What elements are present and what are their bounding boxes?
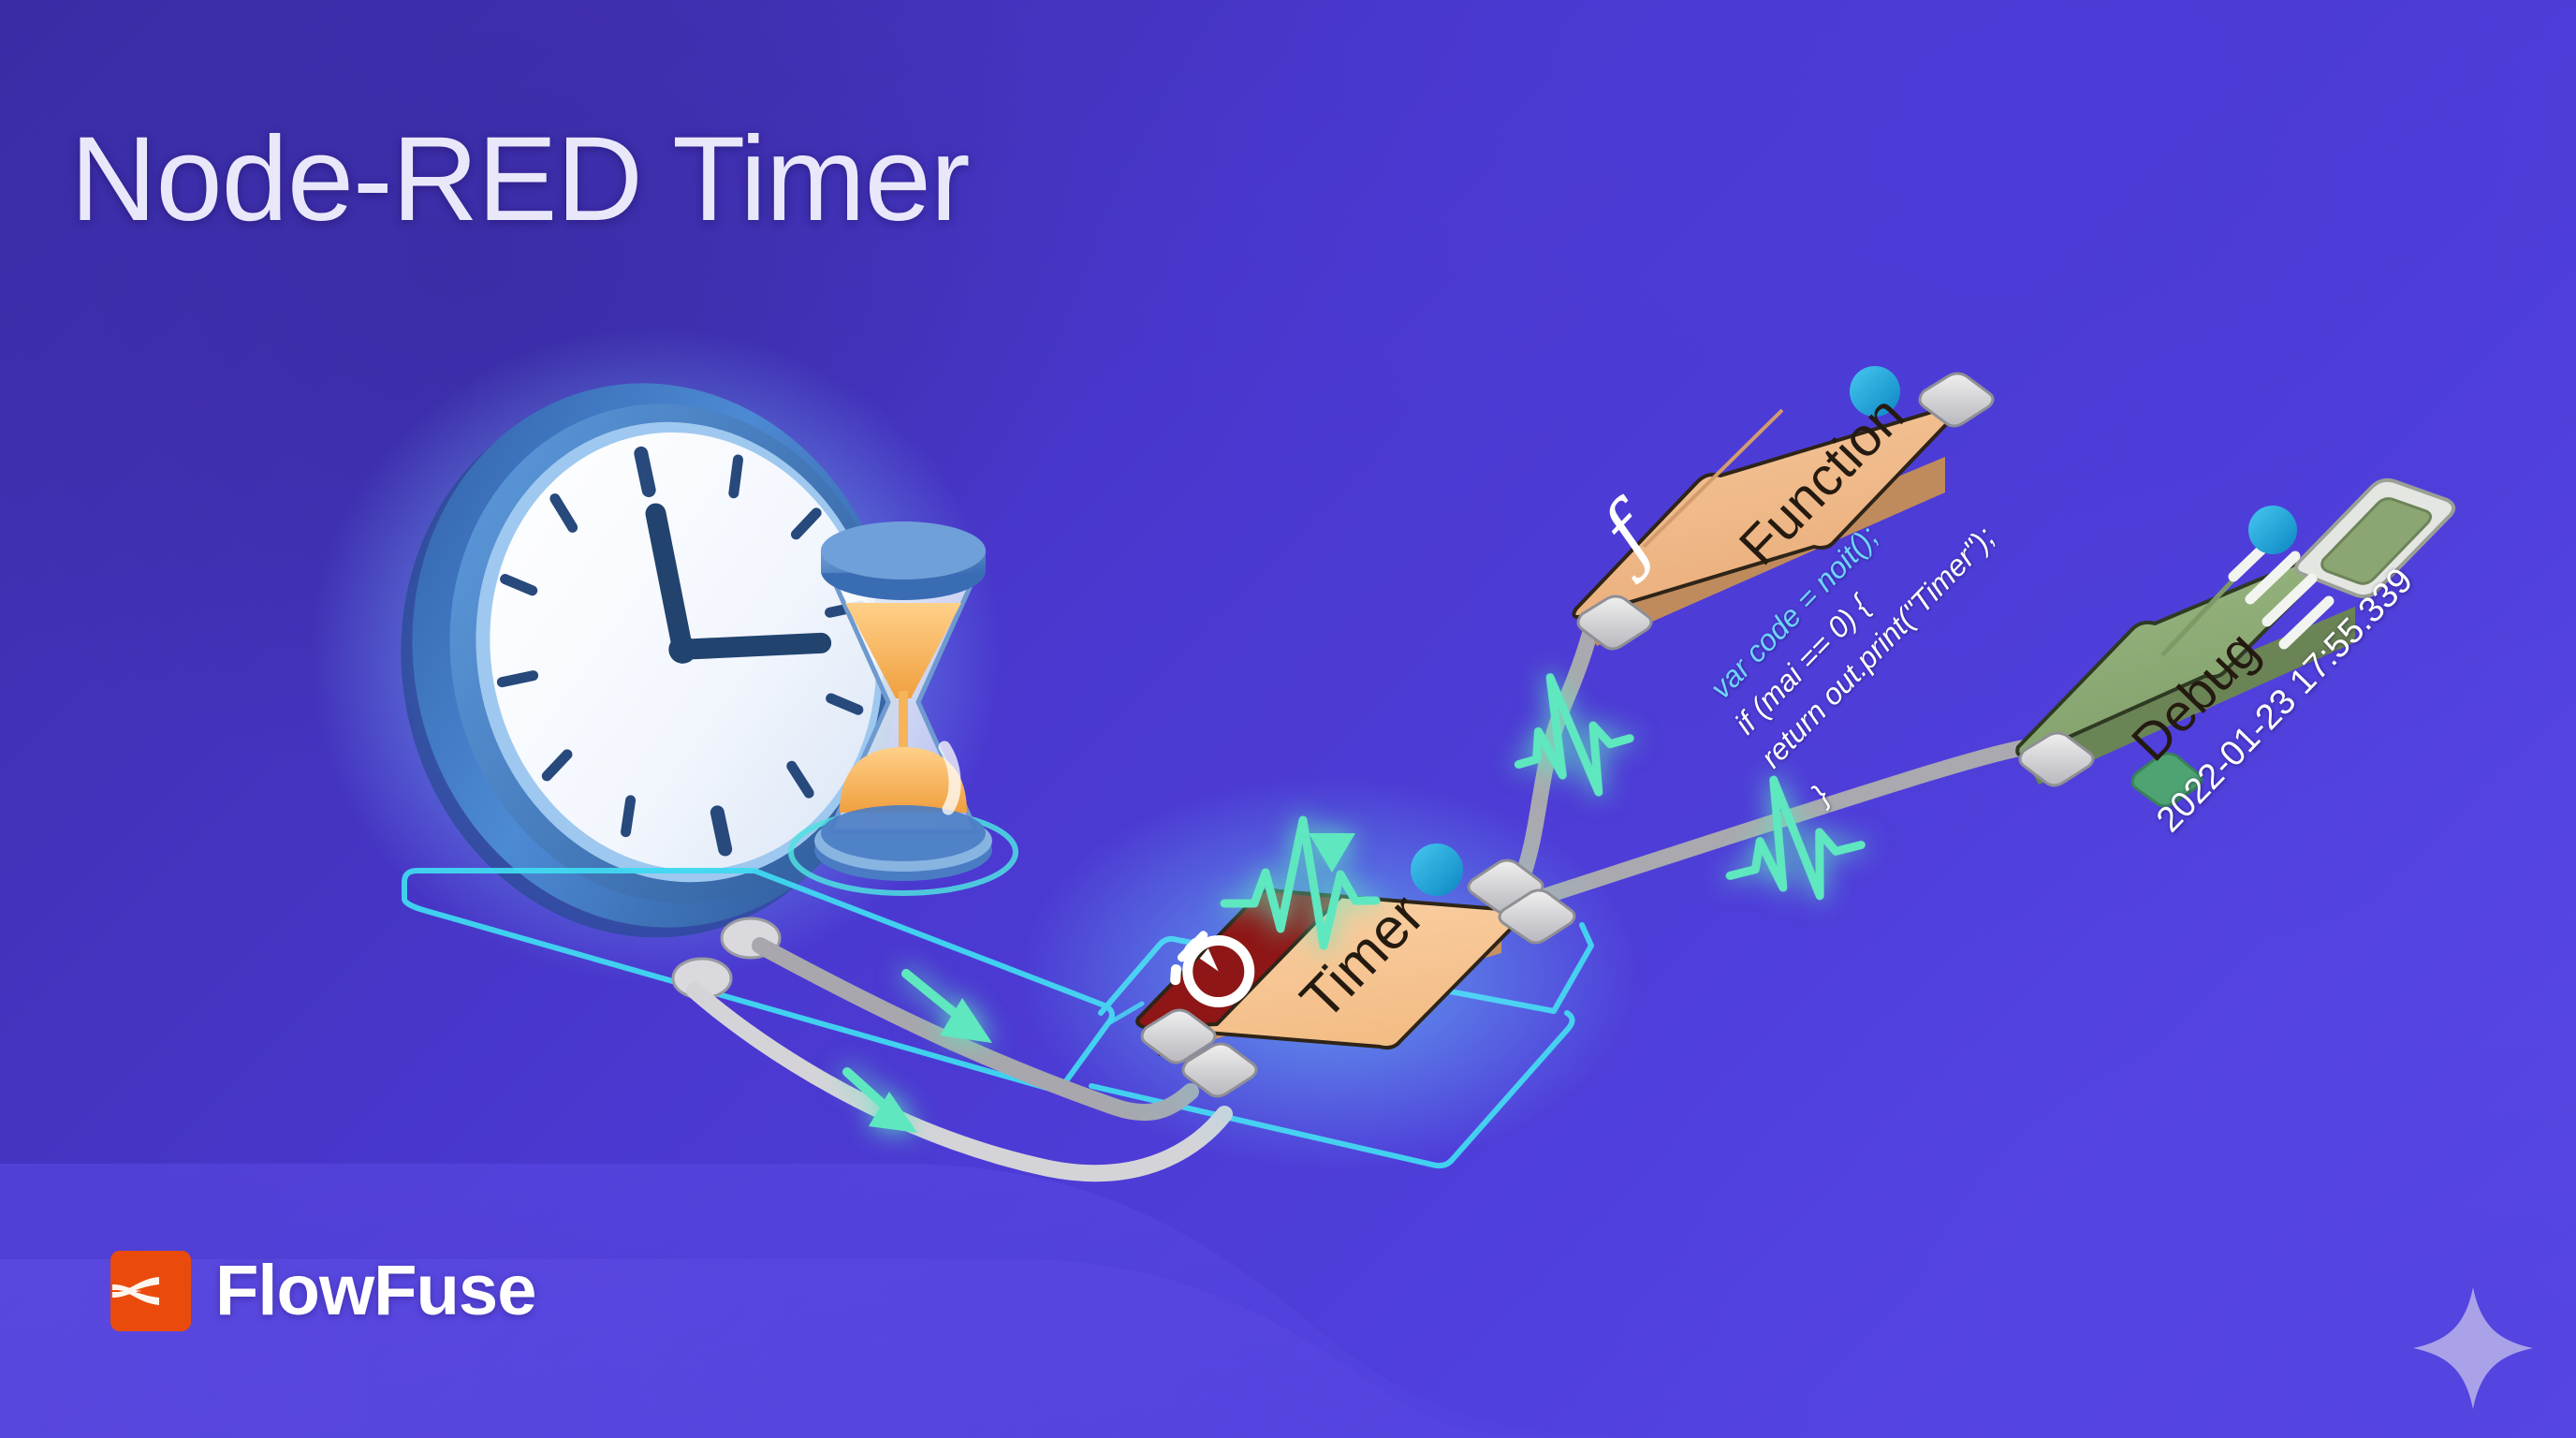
debug-bug-icon <box>2233 534 2329 644</box>
status-dot-timer <box>1411 844 1463 896</box>
node-timer-label: Timer <box>1288 882 1438 1034</box>
svg-text:ƒ: ƒ <box>1573 483 1680 589</box>
code-line-3: return out.print("Timer"); <box>1754 521 2002 775</box>
flow-arrow-1 <box>906 974 992 1043</box>
pulse-wave-function <box>1498 661 1642 812</box>
status-dot-debug <box>2248 506 2297 554</box>
flow-arrow-3 <box>1309 833 1355 873</box>
hero-banner: Node-RED Timer <box>0 0 2576 1438</box>
node-function-label: Function <box>1727 384 1917 578</box>
brand-logo[interactable]: FlowFuse <box>110 1251 535 1331</box>
flowfuse-mark-icon <box>110 1251 191 1331</box>
page-title: Node-RED Timer <box>70 117 969 242</box>
code-line-4: } <box>1805 779 1837 810</box>
sparkle-star <box>2413 1287 2533 1409</box>
stopwatch-icon <box>1159 920 1262 1024</box>
function-f-icon: ƒ <box>1573 483 1680 589</box>
brand-name: FlowFuse <box>215 1255 535 1327</box>
pulse-wave-debug <box>1710 763 1871 916</box>
flow-arrow-2 <box>847 1072 917 1133</box>
